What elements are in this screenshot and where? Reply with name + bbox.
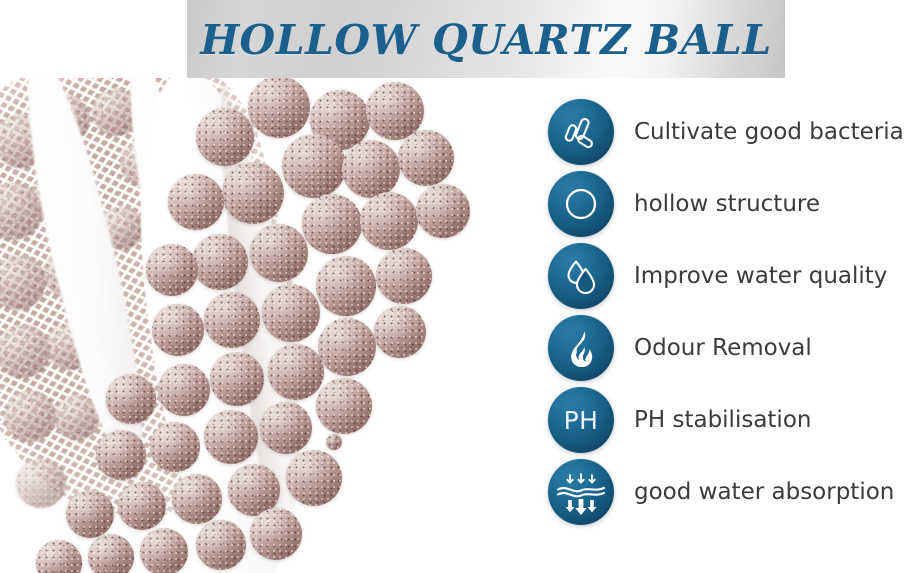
- quartz-ball: [326, 434, 342, 450]
- quartz-ball: [16, 458, 66, 508]
- quartz-ball: [374, 306, 426, 358]
- quartz-ball: [196, 520, 246, 570]
- quartz-ball: [4, 390, 56, 442]
- quartz-ball: [416, 184, 470, 238]
- water-drops-icon: [548, 243, 614, 309]
- product-photo: [0, 78, 540, 573]
- quartz-ball: [250, 224, 308, 282]
- quartz-ball: [286, 450, 342, 506]
- quartz-ball: [204, 410, 258, 464]
- feature-label: good water absorption: [634, 481, 894, 504]
- quartz-ball: [168, 174, 224, 230]
- hollow-circle-icon: [548, 171, 614, 237]
- feature-row[interactable]: hollow structure: [548, 168, 922, 240]
- quartz-ball: [302, 194, 362, 254]
- quartz-ball: [210, 352, 264, 406]
- feature-label: Improve water quality: [634, 265, 887, 288]
- feature-label: PH stabilisation: [634, 409, 811, 432]
- quartz-ball: [196, 108, 254, 166]
- photo-stage: [0, 78, 540, 573]
- quartz-ball: [248, 78, 310, 138]
- quartz-ball: [316, 256, 376, 316]
- quartz-ball: [146, 244, 198, 296]
- flame-icon: [548, 315, 614, 381]
- quartz-ball: [152, 304, 204, 356]
- quartz-ball: [262, 284, 320, 342]
- water-absorption-icon: [548, 459, 614, 525]
- product-infographic: HOLLOW QUARTZ BALL: [0, 0, 922, 573]
- quartz-ball: [204, 292, 260, 348]
- feature-row[interactable]: PH PH stabilisation: [548, 384, 922, 456]
- quartz-ball: [282, 134, 346, 198]
- quartz-ball: [260, 402, 312, 454]
- quartz-ball: [268, 344, 324, 400]
- ph-icon: PH: [548, 387, 614, 453]
- quartz-ball: [158, 364, 210, 416]
- feature-row[interactable]: Cultivate good bacteria: [548, 96, 922, 168]
- feature-label: Odour Removal: [634, 337, 812, 360]
- feature-row[interactable]: Improve water quality: [548, 240, 922, 312]
- quartz-ball: [316, 378, 372, 434]
- ph-icon-label: PH: [564, 408, 599, 433]
- quartz-ball: [172, 474, 222, 524]
- quartz-ball: [192, 234, 248, 290]
- quartz-ball: [318, 318, 376, 376]
- quartz-ball: [88, 534, 134, 573]
- feature-row[interactable]: good water absorption: [548, 456, 922, 528]
- quartz-ball: [360, 192, 418, 250]
- bacteria-icon: [548, 99, 614, 165]
- quartz-ball: [106, 374, 156, 424]
- quartz-ball: [36, 540, 82, 573]
- page-title: HOLLOW QUARTZ BALL: [200, 20, 771, 61]
- quartz-ball: [118, 482, 166, 530]
- quartz-ball: [250, 508, 302, 560]
- feature-label: hollow structure: [634, 193, 820, 216]
- feature-label: Cultivate good bacteria: [634, 121, 904, 144]
- quartz-ball: [398, 130, 454, 186]
- quartz-ball: [222, 162, 284, 224]
- quartz-ball: [96, 430, 146, 480]
- quartz-ball: [140, 528, 188, 573]
- title-banner: HOLLOW QUARTZ BALL: [187, 0, 785, 78]
- quartz-ball: [66, 490, 114, 538]
- quartz-ball: [342, 140, 400, 198]
- quartz-ball: [150, 422, 200, 472]
- feature-list: Cultivate good bacteria hollow structure…: [548, 96, 922, 528]
- feature-row[interactable]: Odour Removal: [548, 312, 922, 384]
- quartz-ball: [376, 248, 432, 304]
